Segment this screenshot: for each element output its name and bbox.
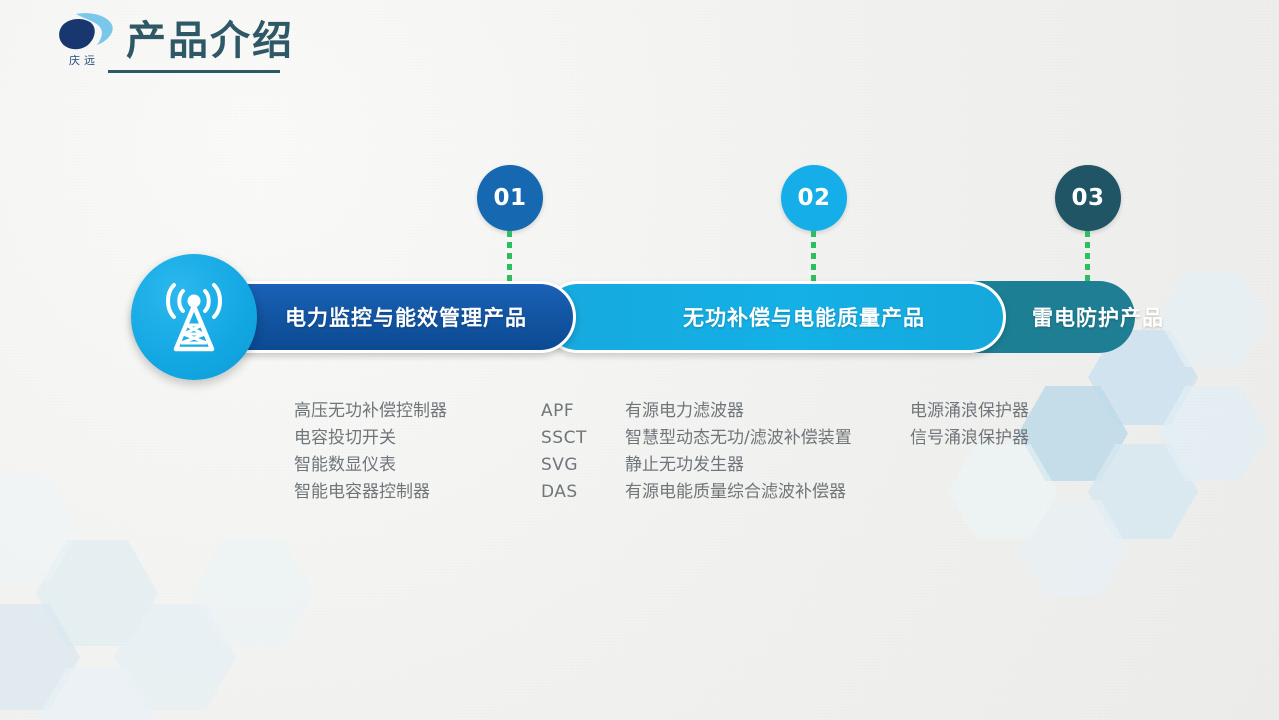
step-marker-01[interactable]: 01 xyxy=(477,165,543,231)
slide-canvas: 庆远 产品介绍 01 02 03 无功补偿与电能质量产品 电力监控与能效管理产品… xyxy=(0,0,1279,720)
ribbon-segment-2-label: 无功补偿与电能质量产品 xyxy=(683,302,925,332)
product-column-codes: APF SSCT SVG DAS xyxy=(541,398,587,506)
ribbon-segment-1-label: 电力监控与能效管理产品 xyxy=(285,302,527,332)
product-category-ribbon: 无功补偿与电能质量产品 电力监控与能效管理产品 雷电防护产品 xyxy=(132,281,1135,353)
connector-line-01 xyxy=(507,231,512,283)
list-item: APF xyxy=(541,398,587,425)
list-item: 高压无功补偿控制器 xyxy=(294,398,447,425)
list-item: 智能电容器控制器 xyxy=(294,479,447,506)
product-column-lightning: 电源涌浪保护器 信号涌浪保护器 xyxy=(910,398,1029,452)
step-marker-03[interactable]: 03 xyxy=(1055,165,1121,231)
list-item: 有源电力滤波器 xyxy=(625,398,852,425)
broadcast-tower-icon xyxy=(131,254,257,380)
connector-line-03 xyxy=(1085,231,1090,283)
list-item: 智慧型动态无功/滤波补偿装置 xyxy=(625,425,852,452)
step-marker-02[interactable]: 02 xyxy=(781,165,847,231)
step-marker-03-label: 03 xyxy=(1071,185,1104,211)
page-title: 产品介绍 xyxy=(126,21,294,61)
list-item: SSCT xyxy=(541,425,587,452)
step-marker-02-label: 02 xyxy=(797,185,830,211)
list-item: DAS xyxy=(541,479,587,506)
list-item: 有源电能质量综合滤波补偿器 xyxy=(625,479,852,506)
connector-line-02 xyxy=(811,231,816,283)
qingyuan-swoosh-logo-icon: 庆远 xyxy=(52,12,116,70)
title-underline xyxy=(108,70,280,73)
step-marker-01-label: 01 xyxy=(493,185,526,211)
list-item: 电源涌浪保护器 xyxy=(910,398,1029,425)
list-item: 信号涌浪保护器 xyxy=(910,425,1029,452)
list-item: 静止无功发生器 xyxy=(625,452,852,479)
list-item: 电容投切开关 xyxy=(294,425,447,452)
logo-subtitle: 庆远 xyxy=(52,52,116,68)
ribbon-segment-lightning-protection[interactable]: 雷电防护产品 xyxy=(1032,281,1164,353)
list-item: 智能数显仪表 xyxy=(294,452,447,479)
ribbon-segment-3-label: 雷电防护产品 xyxy=(1032,302,1164,332)
list-item: SVG xyxy=(541,452,587,479)
product-lists: 高压无功补偿控制器 电容投切开关 智能数显仪表 智能电容器控制器 APF SSC… xyxy=(0,398,1279,518)
ribbon-segment-reactive-power[interactable]: 无功补偿与电能质量产品 xyxy=(542,281,1006,353)
product-column-monitoring: 高压无功补偿控制器 电容投切开关 智能数显仪表 智能电容器控制器 xyxy=(294,398,447,506)
product-column-reactive-power: 有源电力滤波器 智慧型动态无功/滤波补偿装置 静止无功发生器 有源电能质量综合滤… xyxy=(625,398,852,506)
slide-header: 庆远 产品介绍 xyxy=(52,12,294,70)
